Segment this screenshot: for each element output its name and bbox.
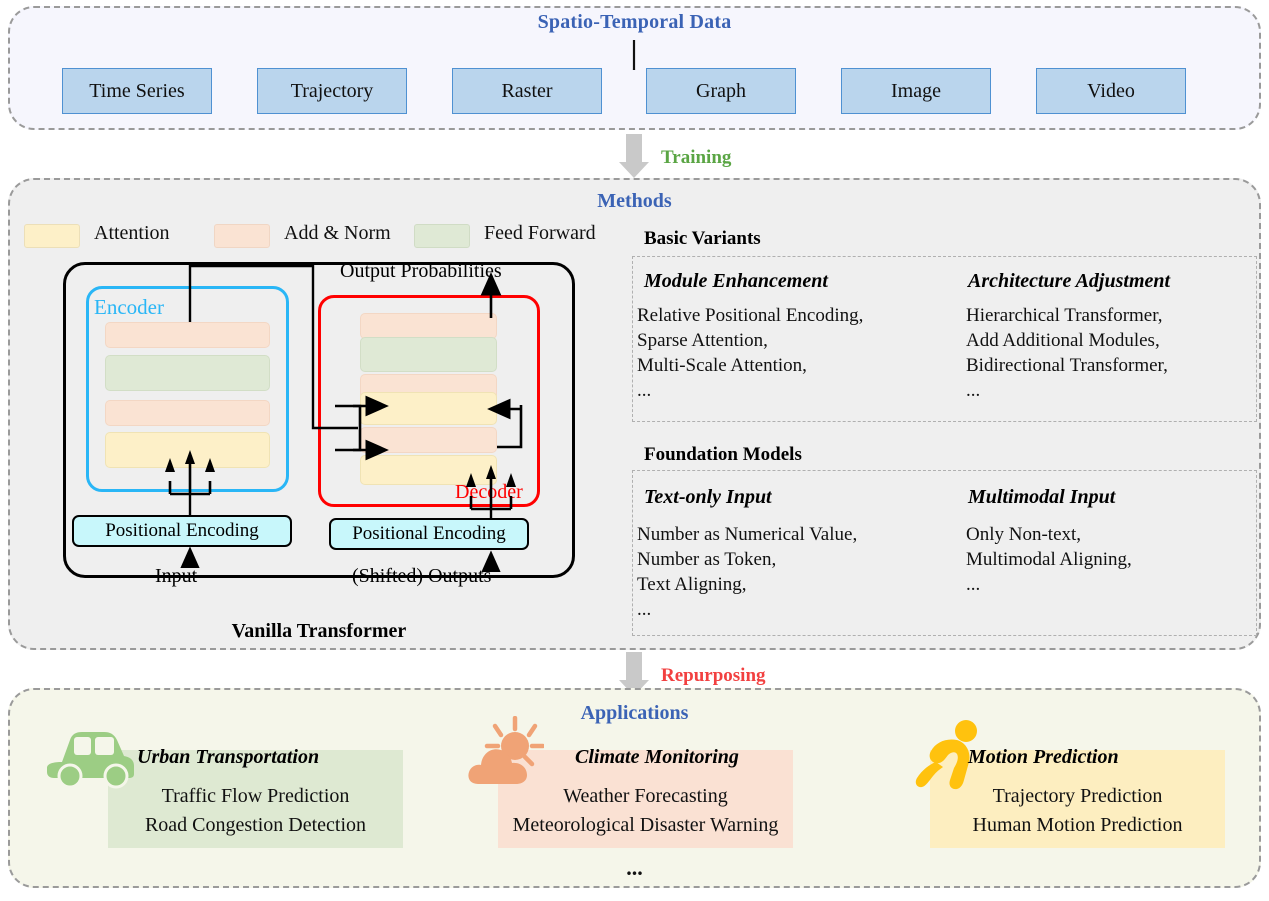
data-type-label: Video: [1087, 80, 1135, 103]
motion-prediction-heading: Motion Prediction: [968, 746, 1119, 769]
input-label: Input: [155, 565, 197, 588]
foundation-models-title: Foundation Models: [644, 444, 802, 466]
training-arrow-icon: [619, 134, 649, 178]
urban-transportation-lines: Traffic Flow Prediction Road Congestion …: [108, 782, 403, 840]
data-type-label: Time Series: [89, 80, 184, 103]
decoder-positional-encoding-label: Positional Encoding: [352, 523, 506, 545]
motion-prediction-lines: Trajectory Prediction Human Motion Predi…: [930, 782, 1225, 840]
training-arrow-label: Training: [661, 147, 731, 169]
applications-ellipsis: ...: [0, 855, 1269, 881]
legend-label-add-norm: Add & Norm: [284, 222, 391, 245]
shifted-outputs-label: (Shifted) Outputs: [352, 565, 491, 588]
architecture-adjustment-heading: Architecture Adjustment: [968, 270, 1170, 293]
encoder-positional-encoding-box: Positional Encoding: [72, 515, 292, 547]
decoder-positional-encoding-box: Positional Encoding: [329, 518, 529, 550]
module-enhancement-list: Relative Positional Encoding, Sparse Att…: [637, 303, 957, 403]
vanilla-transformer-caption: Vanilla Transformer: [63, 620, 575, 643]
data-type-label: Image: [891, 80, 941, 103]
text-only-input-list: Number as Numerical Value, Number as Tok…: [637, 522, 957, 622]
output-probabilities-label: Output Probabilities: [340, 260, 502, 283]
data-type-label: Raster: [501, 80, 552, 103]
data-type-box-time-series[interactable]: Time Series: [62, 68, 212, 114]
data-type-box-video[interactable]: Video: [1036, 68, 1186, 114]
data-type-box-trajectory[interactable]: Trajectory: [257, 68, 407, 114]
multimodal-input-list: Only Non-text, Multimodal Aligning, ...: [966, 522, 1256, 597]
legend-label-feed-forward: Feed Forward: [484, 222, 596, 245]
data-type-box-image[interactable]: Image: [841, 68, 991, 114]
legend-label-attention: Attention: [94, 222, 170, 245]
basic-variants-title: Basic Variants: [644, 228, 761, 250]
applications-title: Applications: [0, 702, 1269, 725]
grouping-brace: [0, 36, 1269, 70]
data-type-box-graph[interactable]: Graph: [646, 68, 796, 114]
module-enhancement-heading: Module Enhancement: [644, 270, 828, 293]
multimodal-input-heading: Multimodal Input: [968, 486, 1115, 509]
urban-transportation-heading: Urban Transportation: [137, 746, 319, 769]
repurposing-arrow-label: Repurposing: [661, 665, 766, 687]
climate-monitoring-lines: Weather Forecasting Meteorological Disas…: [498, 782, 793, 840]
climate-monitoring-heading: Climate Monitoring: [575, 746, 739, 769]
data-type-label: Trajectory: [291, 80, 374, 103]
car-icon: [44, 728, 136, 790]
encoder-positional-encoding-label: Positional Encoding: [105, 520, 259, 542]
legend-swatch-feed-forward: [414, 224, 470, 248]
legend-swatch-attention: [24, 224, 80, 248]
architecture-adjustment-list: Hierarchical Transformer, Add Additional…: [966, 303, 1256, 403]
methods-title: Methods: [0, 190, 1269, 213]
spatio-temporal-data-title: Spatio-Temporal Data: [0, 11, 1269, 34]
data-type-label: Graph: [696, 80, 746, 103]
data-type-box-raster[interactable]: Raster: [452, 68, 602, 114]
sun-cloud-icon: [466, 716, 544, 792]
text-only-input-heading: Text-only Input: [644, 486, 772, 509]
legend-swatch-add-norm: [214, 224, 270, 248]
